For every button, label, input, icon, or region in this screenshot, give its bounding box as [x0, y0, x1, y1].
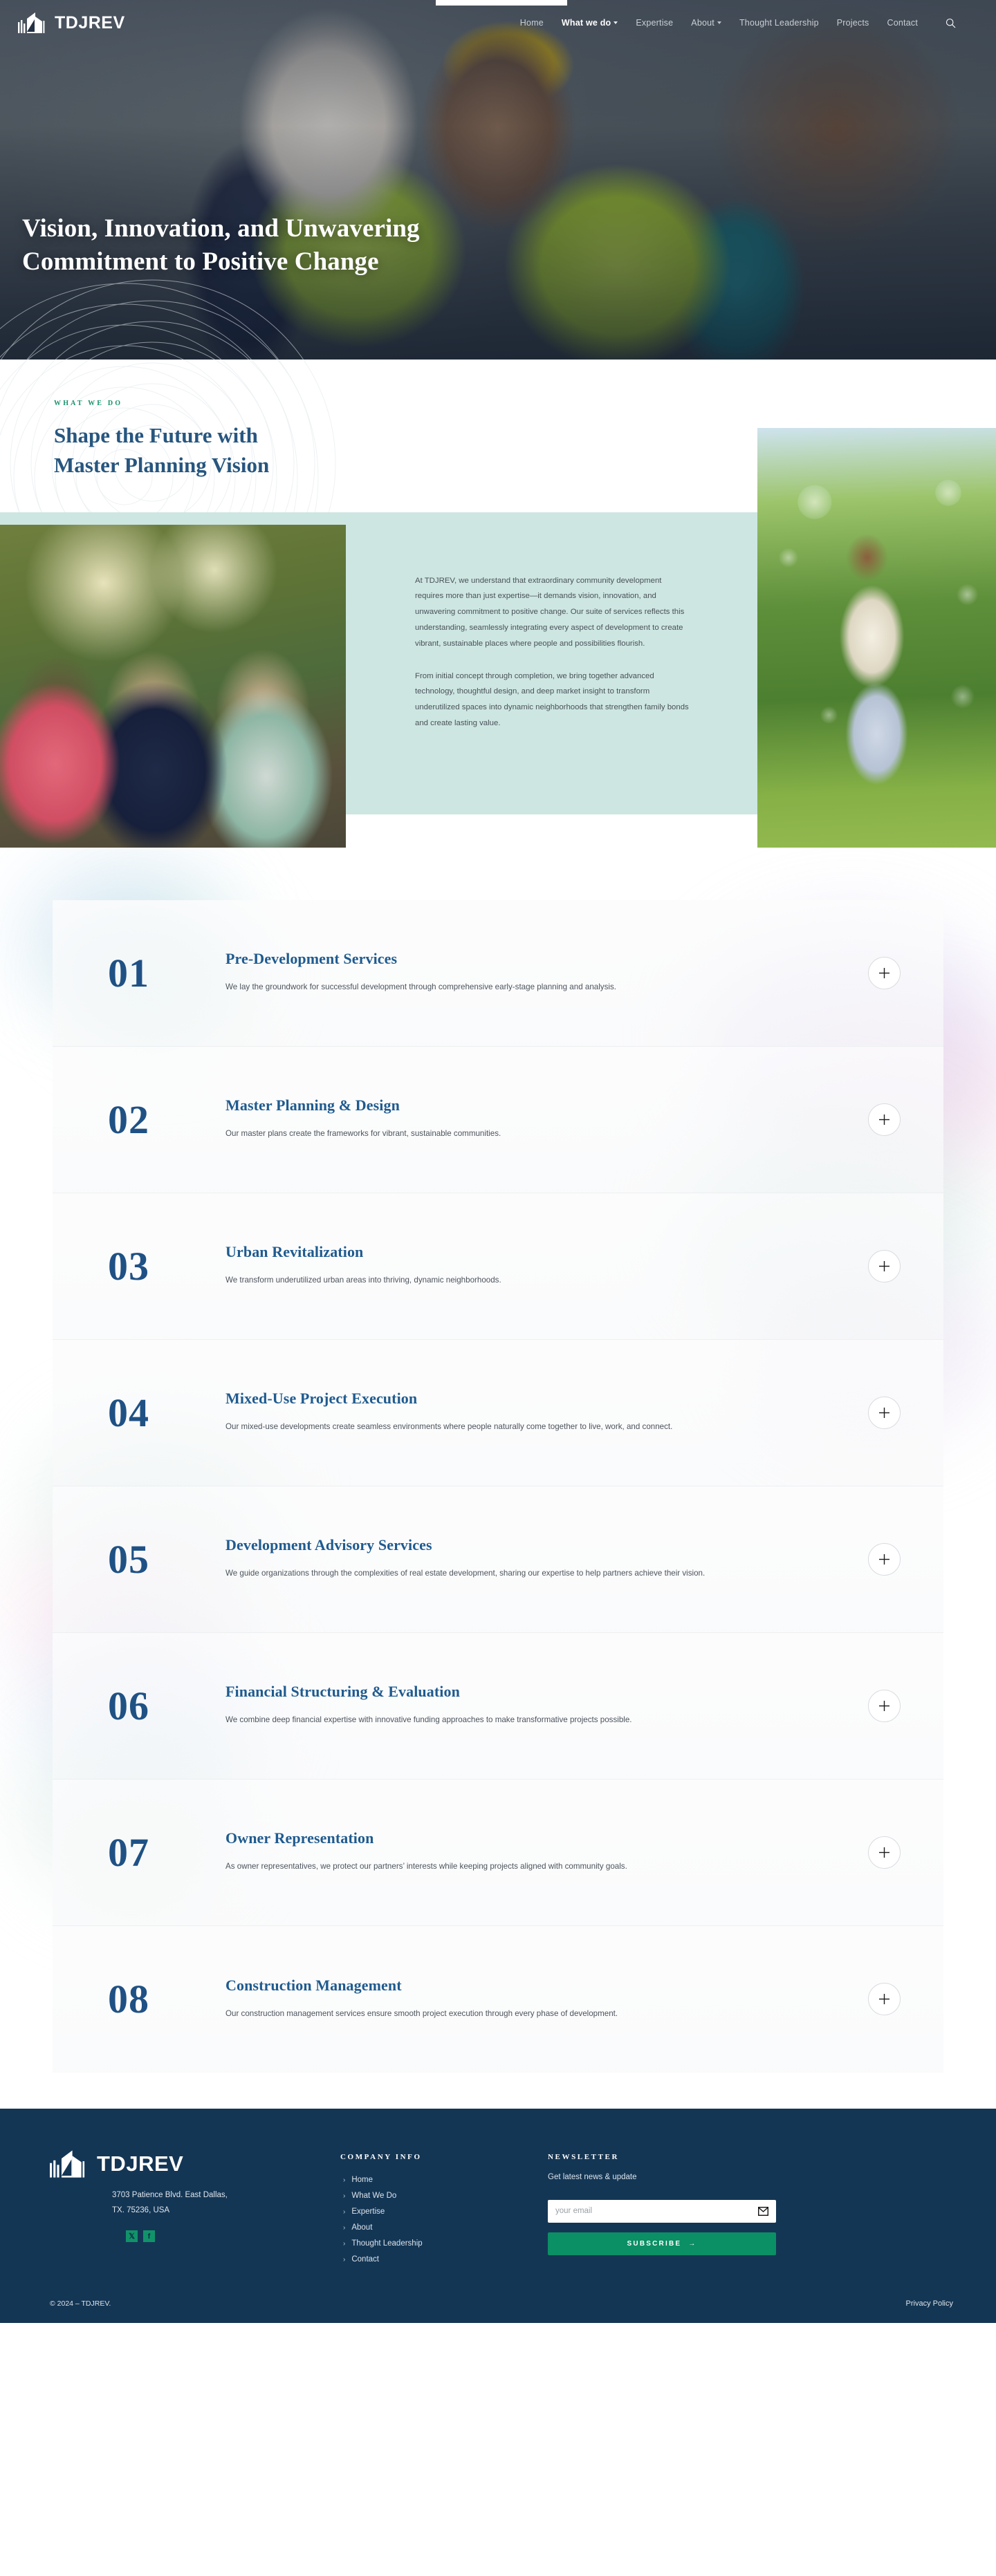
service-title: Urban Revitalization [225, 1243, 868, 1261]
plus-icon [878, 1847, 890, 1858]
chevron-down-icon [614, 21, 618, 24]
footer-link-label: Thought Leadership [351, 2239, 422, 2248]
footer-address: 3703 Patience Blvd. East Dallas, TX. 752… [50, 2187, 340, 2219]
footer-link-label: What We Do [351, 2192, 396, 2200]
address-line-1: 3703 Patience Blvd. East Dallas, [112, 2187, 340, 2203]
hero-title-line1: Vision, Innovation, and Unwavering [22, 214, 420, 243]
service-description: We transform underutilized urban areas i… [225, 1272, 779, 1288]
service-number: 04 [108, 1390, 225, 1436]
chevron-down-icon [717, 21, 721, 24]
site-footer: TDJREV 3703 Patience Blvd. East Dallas, … [0, 2109, 996, 2323]
nav-label: Thought Leadership [739, 18, 819, 28]
service-description: We combine deep financial expertise with… [225, 1712, 779, 1728]
building-logo-icon [18, 12, 50, 33]
footer-link-contact[interactable]: › Contact [340, 2252, 548, 2268]
paragraph-2: From initial concept through completion,… [415, 669, 692, 731]
nav-item-about[interactable]: About [691, 18, 721, 28]
building-logo-icon [50, 2150, 91, 2178]
nav-label: Projects [837, 18, 869, 28]
services-accordion-section: 01 Pre-Development Services We lay the g… [0, 848, 996, 2109]
email-input[interactable] [555, 2207, 758, 2215]
chevron-right-icon: › [343, 2208, 345, 2216]
service-content: Pre-Development Services We lay the grou… [225, 950, 868, 995]
service-title: Development Advisory Services [225, 1536, 868, 1554]
nav-label: About [691, 18, 714, 28]
expand-button[interactable] [868, 1543, 901, 1576]
service-item-03[interactable]: 03 Urban Revitalization We transform und… [53, 1193, 943, 1340]
facebook-icon[interactable]: f [143, 2230, 155, 2242]
address-line-2: TX. 75236, USA [112, 2203, 340, 2218]
arrow-right-icon: → [688, 2240, 697, 2248]
social-glyph: f [148, 2232, 151, 2241]
service-content: Owner Representation As owner representa… [225, 1829, 868, 1874]
nav-label: What we do [562, 18, 611, 28]
subscribe-label: SUBSCRIBE [627, 2240, 682, 2248]
brand-name: TDJREV [55, 13, 125, 33]
service-number: 06 [108, 1683, 225, 1729]
plus-icon [878, 1993, 890, 2005]
section-title: Shape the Future with Master Planning Vi… [54, 421, 996, 480]
plus-icon [878, 1407, 890, 1419]
copyright-text: © 2024 – TDJREV. [43, 2299, 111, 2308]
child-bubbles-photo [757, 428, 996, 891]
footer-link-label: About [351, 2223, 372, 2232]
hero-title-line2: Commitment to Positive Change [22, 248, 379, 276]
service-title: Owner Representation [225, 1829, 868, 1847]
expand-button[interactable] [868, 957, 901, 989]
service-description: Our master plans create the frameworks f… [225, 1126, 779, 1141]
chevron-right-icon: › [343, 2192, 345, 2200]
footer-link-label: Home [351, 2176, 373, 2184]
service-content: Construction Management Our construction… [225, 1977, 868, 2022]
nav-item-thought-leadership[interactable]: Thought Leadership [739, 18, 819, 28]
footer-company-links: › Home › What We Do › Expertise › About [340, 2172, 548, 2268]
hero-title-block: Vision, Innovation, and Unwavering Commi… [22, 212, 420, 278]
nav-label: Contact [887, 18, 918, 28]
top-white-strip [436, 0, 567, 6]
newsletter-input-wrapper[interactable] [548, 2200, 776, 2223]
hero-title: Vision, Innovation, and Unwavering Commi… [22, 212, 420, 278]
nav-links: Home What we do Expertise About Thought … [520, 18, 956, 28]
what-we-do-copy: At TDJREV, we understand that extraordin… [415, 573, 692, 731]
footer-link-thought-leadership[interactable]: › Thought Leadership [340, 2236, 548, 2252]
search-icon[interactable] [946, 18, 956, 28]
what-we-do-section: WHAT WE DO Shape the Future with Master … [0, 360, 996, 848]
plus-icon [878, 967, 890, 979]
footer-link-what-we-do[interactable]: › What We Do [340, 2188, 548, 2204]
service-item-07[interactable]: 07 Owner Representation As owner represe… [53, 1780, 943, 1926]
footer-newsletter-column: NEWSLETTER Get latest news & update SUBS… [548, 2150, 776, 2268]
footer-link-expertise[interactable]: › Expertise [340, 2204, 548, 2220]
footer-brand-name: TDJREV [97, 2152, 183, 2176]
nav-item-projects[interactable]: Projects [837, 18, 869, 28]
expand-button[interactable] [868, 1690, 901, 1722]
service-content: Urban Revitalization We transform underu… [225, 1243, 868, 1288]
nav-item-expertise[interactable]: Expertise [636, 18, 673, 28]
service-description: Our mixed-use developments create seamle… [225, 1419, 779, 1435]
chevron-right-icon: › [343, 2256, 345, 2264]
service-item-05[interactable]: 05 Development Advisory Services We guid… [53, 1486, 943, 1633]
nav-label: Home [520, 18, 544, 28]
footer-logo[interactable]: TDJREV [50, 2150, 340, 2178]
service-item-02[interactable]: 02 Master Planning & Design Our master p… [53, 1047, 943, 1193]
footer-link-home[interactable]: › Home [340, 2172, 548, 2188]
nav-item-what-we-do[interactable]: What we do [562, 18, 618, 28]
subscribe-button[interactable]: SUBSCRIBE → [548, 2232, 776, 2255]
service-title: Mixed-Use Project Execution [225, 1390, 868, 1408]
service-content: Financial Structuring & Evaluation We co… [225, 1683, 868, 1728]
what-we-do-body: At TDJREV, we understand that extraordin… [0, 512, 996, 848]
chevron-right-icon: › [343, 2176, 345, 2184]
service-number: 01 [108, 950, 225, 996]
plus-icon [878, 1260, 890, 1272]
main-navigation: TDJREV Home What we do Expertise About [0, 0, 996, 46]
nav-item-contact[interactable]: Contact [887, 18, 918, 28]
footer-company-info-column: COMPANY INFO › Home › What We Do › Exper… [340, 2150, 548, 2268]
community-group-photo [0, 525, 346, 848]
section-title-line2: Master Planning Vision [54, 453, 269, 477]
service-number: 05 [108, 1536, 225, 1583]
service-number: 03 [108, 1243, 225, 1289]
plus-icon [878, 1114, 890, 1126]
nav-item-home[interactable]: Home [520, 18, 544, 28]
paragraph-1: At TDJREV, we understand that extraordin… [415, 573, 692, 652]
expand-button[interactable] [868, 1836, 901, 1869]
service-item-04[interactable]: 04 Mixed-Use Project Execution Our mixed… [53, 1340, 943, 1486]
service-title: Pre-Development Services [225, 950, 868, 968]
expand-button[interactable] [868, 1983, 901, 2015]
service-content: Mixed-Use Project Execution Our mixed-us… [225, 1390, 868, 1435]
chevron-right-icon: › [343, 2224, 345, 2232]
plus-icon [878, 1700, 890, 1712]
section-title-line1: Shape the Future with [54, 423, 258, 447]
hero-overlay-scrim [0, 0, 996, 360]
service-item-08[interactable]: 08 Construction Management Our construct… [53, 1926, 943, 2073]
service-item-06[interactable]: 06 Financial Structuring & Evaluation We… [53, 1633, 943, 1780]
service-description: As owner representatives, we protect our… [225, 1858, 779, 1874]
social-glyph: 𝕏 [129, 2232, 135, 2241]
envelope-icon [758, 2207, 768, 2216]
footer-link-about[interactable]: › About [340, 2220, 548, 2236]
footer-link-label: Expertise [351, 2208, 385, 2216]
privacy-policy-link[interactable]: Privacy Policy [906, 2299, 953, 2308]
footer-bottom-bar: © 2024 – TDJREV. Privacy Policy [43, 2299, 953, 2323]
service-content: Master Planning & Design Our master plan… [225, 1096, 868, 1141]
footer-company-heading: COMPANY INFO [340, 2153, 548, 2161]
footer-newsletter-subtitle: Get latest news & update [548, 2173, 776, 2181]
service-content: Development Advisory Services We guide o… [225, 1536, 868, 1581]
page-root: TDJREV Home What we do Expertise About [0, 0, 996, 2323]
plus-icon [878, 1553, 890, 1565]
footer-link-label: Contact [351, 2255, 379, 2264]
x-twitter-icon[interactable]: 𝕏 [126, 2230, 138, 2242]
expand-button[interactable] [868, 1103, 901, 1136]
service-number: 07 [108, 1829, 225, 1876]
chevron-right-icon: › [343, 2240, 345, 2248]
expand-button[interactable] [868, 1250, 901, 1282]
nav-label: Expertise [636, 18, 673, 28]
services-list: 01 Pre-Development Services We lay the g… [53, 900, 943, 2073]
service-item-01[interactable]: 01 Pre-Development Services We lay the g… [53, 900, 943, 1047]
service-description: Our construction management services ens… [225, 2006, 779, 2022]
service-title: Construction Management [225, 1977, 868, 1995]
hero-section: TDJREV Home What we do Expertise About [0, 0, 996, 360]
service-number: 02 [108, 1096, 225, 1143]
footer-social-links: 𝕏 f [50, 2230, 340, 2242]
service-description: We guide organizations through the compl… [225, 1565, 779, 1581]
brand-logo[interactable]: TDJREV [18, 12, 125, 33]
expand-button[interactable] [868, 1397, 901, 1429]
section-eyebrow: WHAT WE DO [54, 400, 996, 407]
footer-brand-column: TDJREV 3703 Patience Blvd. East Dallas, … [43, 2150, 340, 2268]
service-title: Financial Structuring & Evaluation [225, 1683, 868, 1701]
footer-newsletter-heading: NEWSLETTER [548, 2153, 776, 2161]
what-we-do-heading-block: WHAT WE DO Shape the Future with Master … [0, 400, 996, 480]
service-title: Master Planning & Design [225, 1096, 868, 1114]
service-description: We lay the groundwork for successful dev… [225, 979, 779, 995]
footer-columns: TDJREV 3703 Patience Blvd. East Dallas, … [43, 2150, 953, 2268]
service-number: 08 [108, 1976, 225, 2022]
